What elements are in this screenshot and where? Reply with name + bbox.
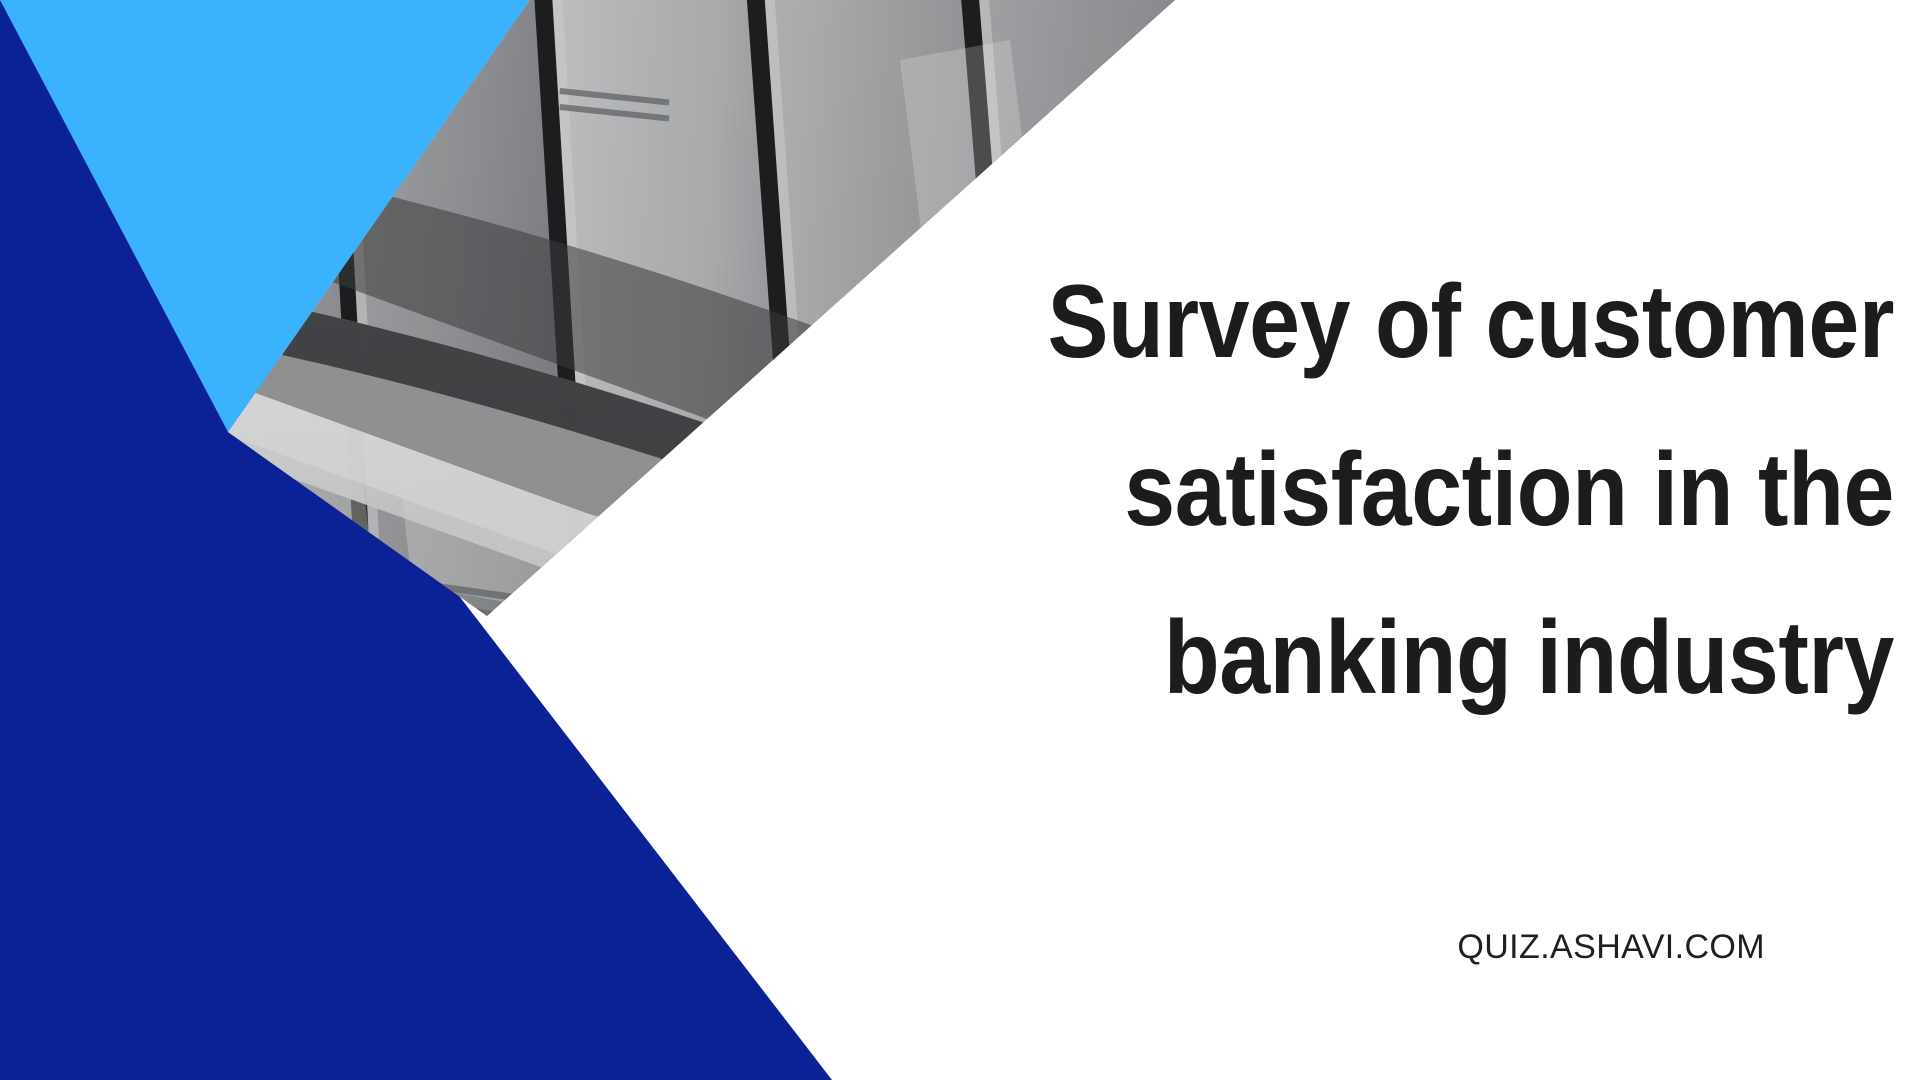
title-line-3: banking industry: [856, 574, 1894, 742]
title-line-2: satisfaction in the: [856, 406, 1894, 574]
title-line-1: Survey of customer: [856, 238, 1894, 406]
title-slide: Survey of customer satisfaction in the b…: [0, 0, 1920, 1080]
source-label: QUIZ.ASHAVI.COM: [1457, 928, 1765, 967]
page-title: Survey of customer satisfaction in the b…: [714, 238, 1894, 742]
